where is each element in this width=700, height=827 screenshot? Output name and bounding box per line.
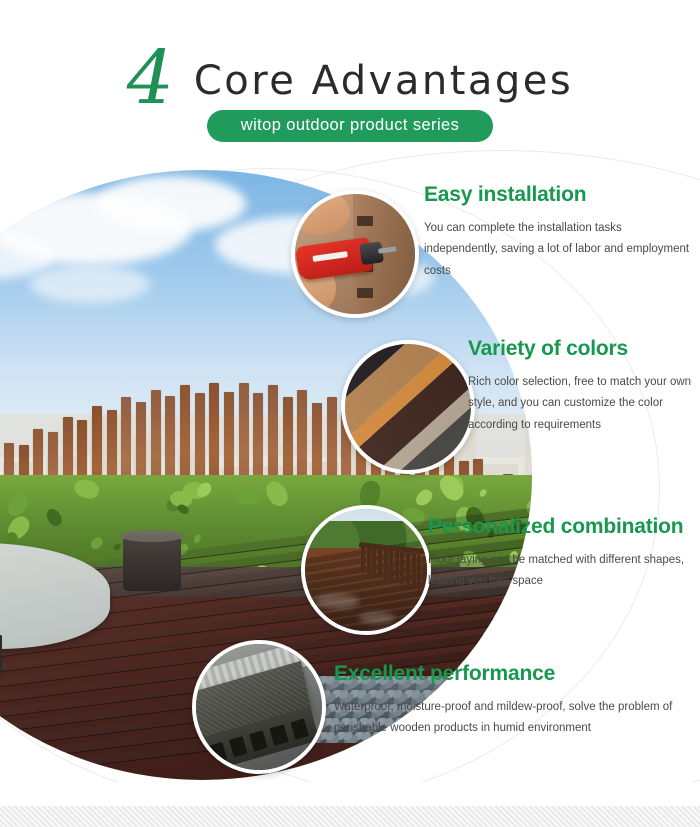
feature-title: Excellent performance: [334, 662, 700, 686]
page-title: Core Advantages: [194, 58, 573, 104]
advantage-count-numeral: 4: [127, 47, 172, 110]
feature-body: You can complete the installation tasks …: [424, 218, 690, 282]
feature-body: Waterproof, moisture-proof and mildew-pr…: [334, 697, 700, 740]
feature-body: Rich color selection, free to match your…: [468, 372, 700, 436]
subtitle-pill-wrap: witop outdoor product series: [0, 110, 700, 142]
thumbnail-variety-of-colors[interactable]: [341, 340, 475, 474]
feature-block-variety-of-colors: Variety of colors Rich color selection, …: [468, 337, 700, 436]
feature-block-easy-installation: Easy installation You can complete the i…: [424, 183, 690, 282]
lounge-chair: [0, 499, 110, 682]
page-header: 4 Core Advantages witop outdoor product …: [0, 0, 700, 152]
thumbnail-personalized-combination[interactable]: [301, 505, 431, 635]
feature-title: Personalized combination: [428, 515, 700, 539]
feature-body: Floor laying can be matched with differe…: [428, 550, 700, 593]
footer-spacer: [0, 782, 700, 806]
infographic-page: 4 Core Advantages witop outdoor product …: [0, 0, 700, 827]
side-table: [123, 535, 181, 591]
header-title-row: 4 Core Advantages: [0, 38, 700, 106]
subtitle-pill: witop outdoor product series: [207, 110, 493, 142]
feature-title: Variety of colors: [468, 337, 700, 361]
footer-hatch-strip: [0, 806, 700, 827]
feature-block-personalized-combination: Personalized combination Floor laying ca…: [428, 515, 700, 593]
feature-block-excellent-performance: Excellent performance Waterproof, moistu…: [334, 662, 700, 740]
thumbnail-easy-installation[interactable]: [291, 190, 419, 318]
feature-title: Easy installation: [424, 183, 690, 207]
thumbnail-excellent-performance[interactable]: [192, 640, 326, 774]
